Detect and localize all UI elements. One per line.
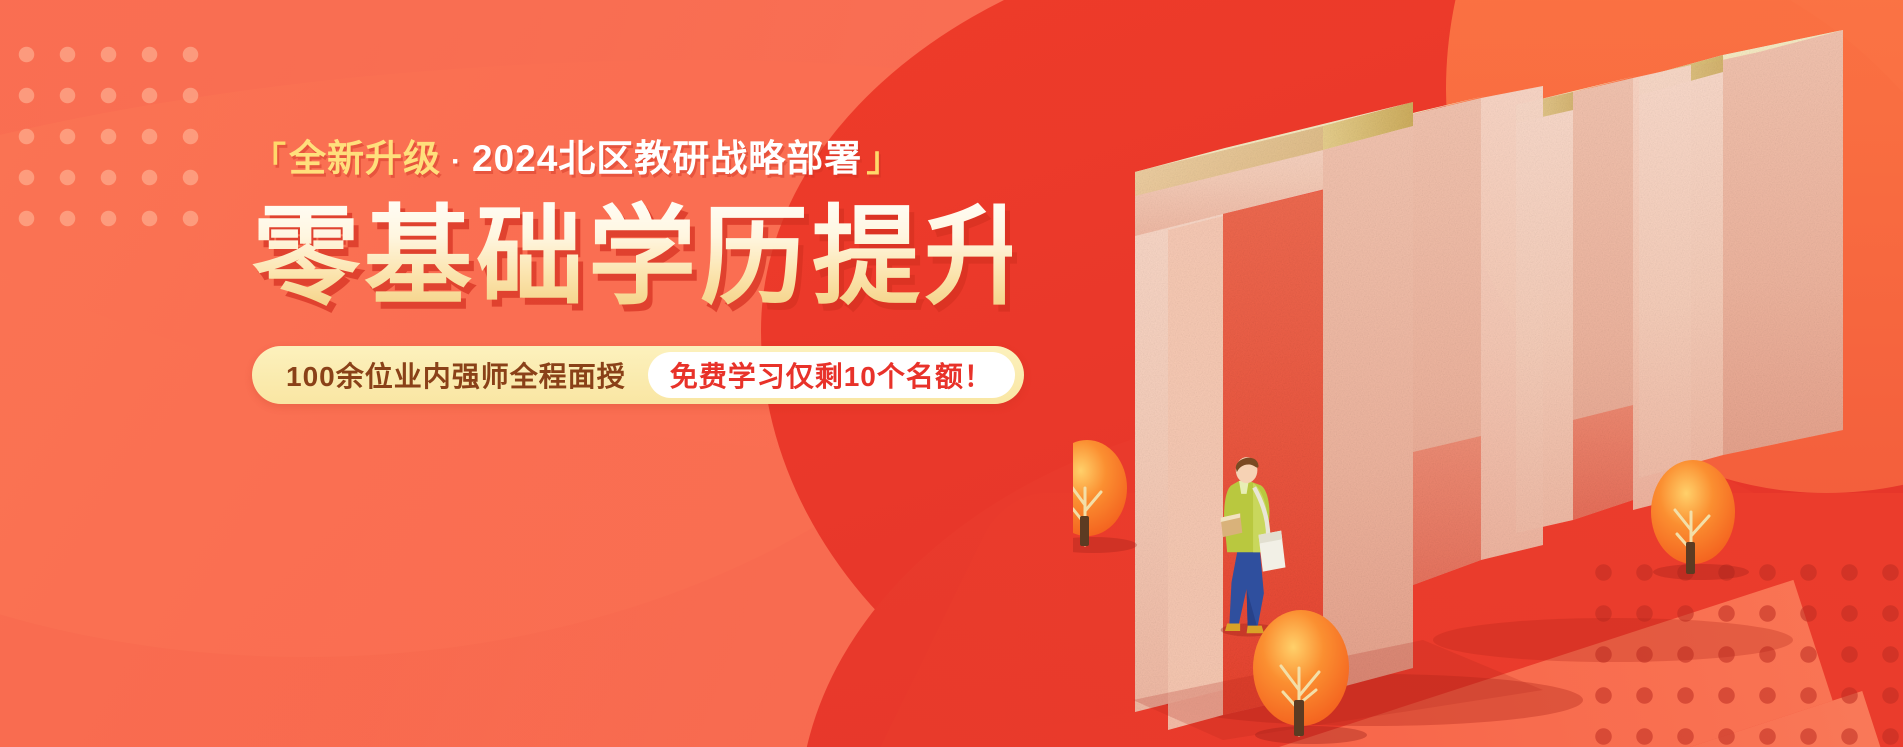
offer-pill-highlight: 免费学习仅剩10个名额！ — [648, 352, 1015, 398]
offer-pill-label: 100余位业内强师全程面授 — [286, 355, 648, 395]
dot-pattern-bottom-right — [1573, 542, 1903, 747]
bracket-open-icon: 「 — [252, 143, 287, 177]
dot-pattern-top-left — [0, 28, 215, 228]
banner-offer-pill[interactable]: 100余位业内强师全程面授 免费学习仅剩10个名额！ — [252, 346, 1024, 404]
banner-text-content: 「 全新升级 · 2024北区教研战略部署 」 零基础学历提升学霸班 100余位… — [252, 140, 1012, 404]
subtitle-rest: 2024北区教研战略部署 — [472, 140, 862, 177]
banner-headline: 零基础学历提升学霸班 — [252, 199, 1012, 316]
promo-banner: 「 全新升级 · 2024北区教研战略部署 」 零基础学历提升学霸班 100余位… — [0, 0, 1903, 747]
subtitle-separator: · — [451, 147, 462, 177]
bracket-close-icon: 」 — [866, 143, 901, 177]
banner-subtitle: 「 全新升级 · 2024北区教研战略部署 」 — [252, 140, 1012, 177]
subtitle-highlight: 全新升级 — [289, 140, 441, 177]
